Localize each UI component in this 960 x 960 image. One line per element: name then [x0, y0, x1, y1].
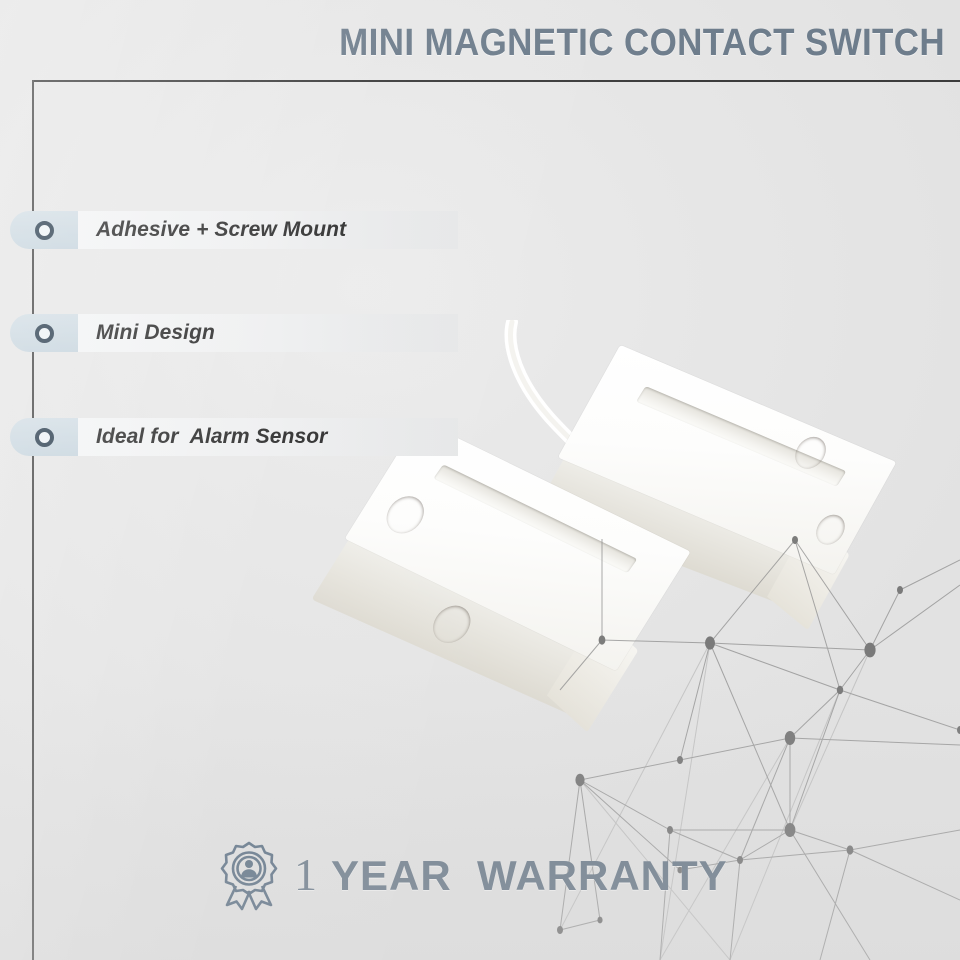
feature-label: Ideal for Alarm Sensor: [78, 425, 327, 449]
product-block-front: [307, 419, 690, 730]
bullet-cap: [10, 418, 78, 456]
feature-item-mini-design[interactable]: Mini Design: [10, 314, 458, 352]
bullet-cap: [10, 314, 78, 352]
warranty-words: YEAR WARRANTY: [331, 855, 728, 897]
feature-label: Adhesive + Screw Mount: [78, 218, 346, 242]
warranty-badge: 1 YEAR WARRANTY: [218, 834, 728, 916]
warranty-number: 1: [294, 852, 317, 898]
frame-rule-horizontal: [32, 80, 960, 82]
feature-bar: Adhesive + Screw Mount: [78, 211, 458, 249]
feature-label: Mini Design: [78, 321, 215, 345]
product-block-back: [528, 345, 897, 629]
page-title: MINI MAGNETIC CONTACT SWITCH: [76, 22, 945, 65]
background-sheen: [0, 0, 960, 960]
ring-bullet-icon: [35, 428, 54, 447]
product-banner: MINI MAGNETIC CONTACT SWITCH: [0, 0, 960, 960]
feature-item-ideal-for-alarm-sensor[interactable]: Ideal for Alarm Sensor: [10, 418, 458, 456]
feature-bar: Mini Design: [78, 314, 458, 352]
ring-bullet-icon: [35, 324, 54, 343]
warranty-text: 1 YEAR WARRANTY: [294, 852, 728, 898]
ring-bullet-icon: [35, 221, 54, 240]
warranty-rosette-icon: [218, 839, 280, 911]
bullet-cap: [10, 211, 78, 249]
product-image: [330, 330, 950, 810]
feature-bar: Ideal for Alarm Sensor: [78, 418, 458, 456]
feature-item-adhesive-screw-mount[interactable]: Adhesive + Screw Mount: [10, 211, 458, 249]
